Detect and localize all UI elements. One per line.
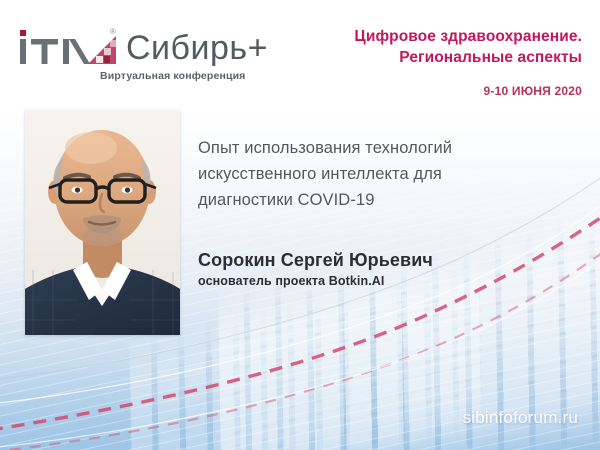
talk-title: Опыт использования технологий искусствен… bbox=[198, 135, 488, 213]
speaker-role: основатель проекта Botkin.AI bbox=[198, 274, 385, 288]
conference-theme: Цифровое здравоохранение. Региональные а… bbox=[282, 26, 582, 68]
registered-trademark-symbol: ® bbox=[110, 27, 116, 36]
slide-header: ® Сибирь+ Виртуальная конференция Цифров… bbox=[0, 0, 600, 112]
itm-triangle-mark-icon bbox=[18, 26, 122, 66]
conference-theme-line-2: Региональные аспекты bbox=[282, 47, 582, 68]
conference-slide: ® Сибирь+ Виртуальная конференция Цифров… bbox=[0, 0, 600, 450]
conference-dates: 9-10 ИЮНЯ 2020 bbox=[484, 84, 582, 98]
logo-subtitle: Виртуальная конференция bbox=[100, 70, 283, 82]
conference-theme-line-1: Цифровое здравоохранение. bbox=[282, 26, 582, 47]
site-url[interactable]: sibinfoforum.ru bbox=[463, 408, 578, 428]
itm-lettermark: ® bbox=[18, 26, 122, 66]
speaker-portrait-illustration bbox=[25, 110, 180, 335]
logo-row: ® Сибирь+ bbox=[18, 26, 283, 66]
logo-wordmark-text: Сибирь bbox=[126, 29, 248, 67]
talk-title-line-2: искусственного интеллекта для bbox=[198, 161, 488, 187]
conference-logo: ® Сибирь+ Виртуальная конференция bbox=[18, 26, 283, 82]
talk-title-line-1: Опыт использования технологий bbox=[198, 135, 488, 161]
logo-wordmark: Сибирь+ bbox=[126, 31, 268, 65]
speaker-name: Сорокин Сергей Юрьевич bbox=[198, 250, 433, 271]
logo-plus-sign: + bbox=[248, 29, 268, 67]
speaker-portrait bbox=[25, 110, 180, 335]
talk-title-line-3: диагностики COVID-19 bbox=[198, 187, 488, 213]
